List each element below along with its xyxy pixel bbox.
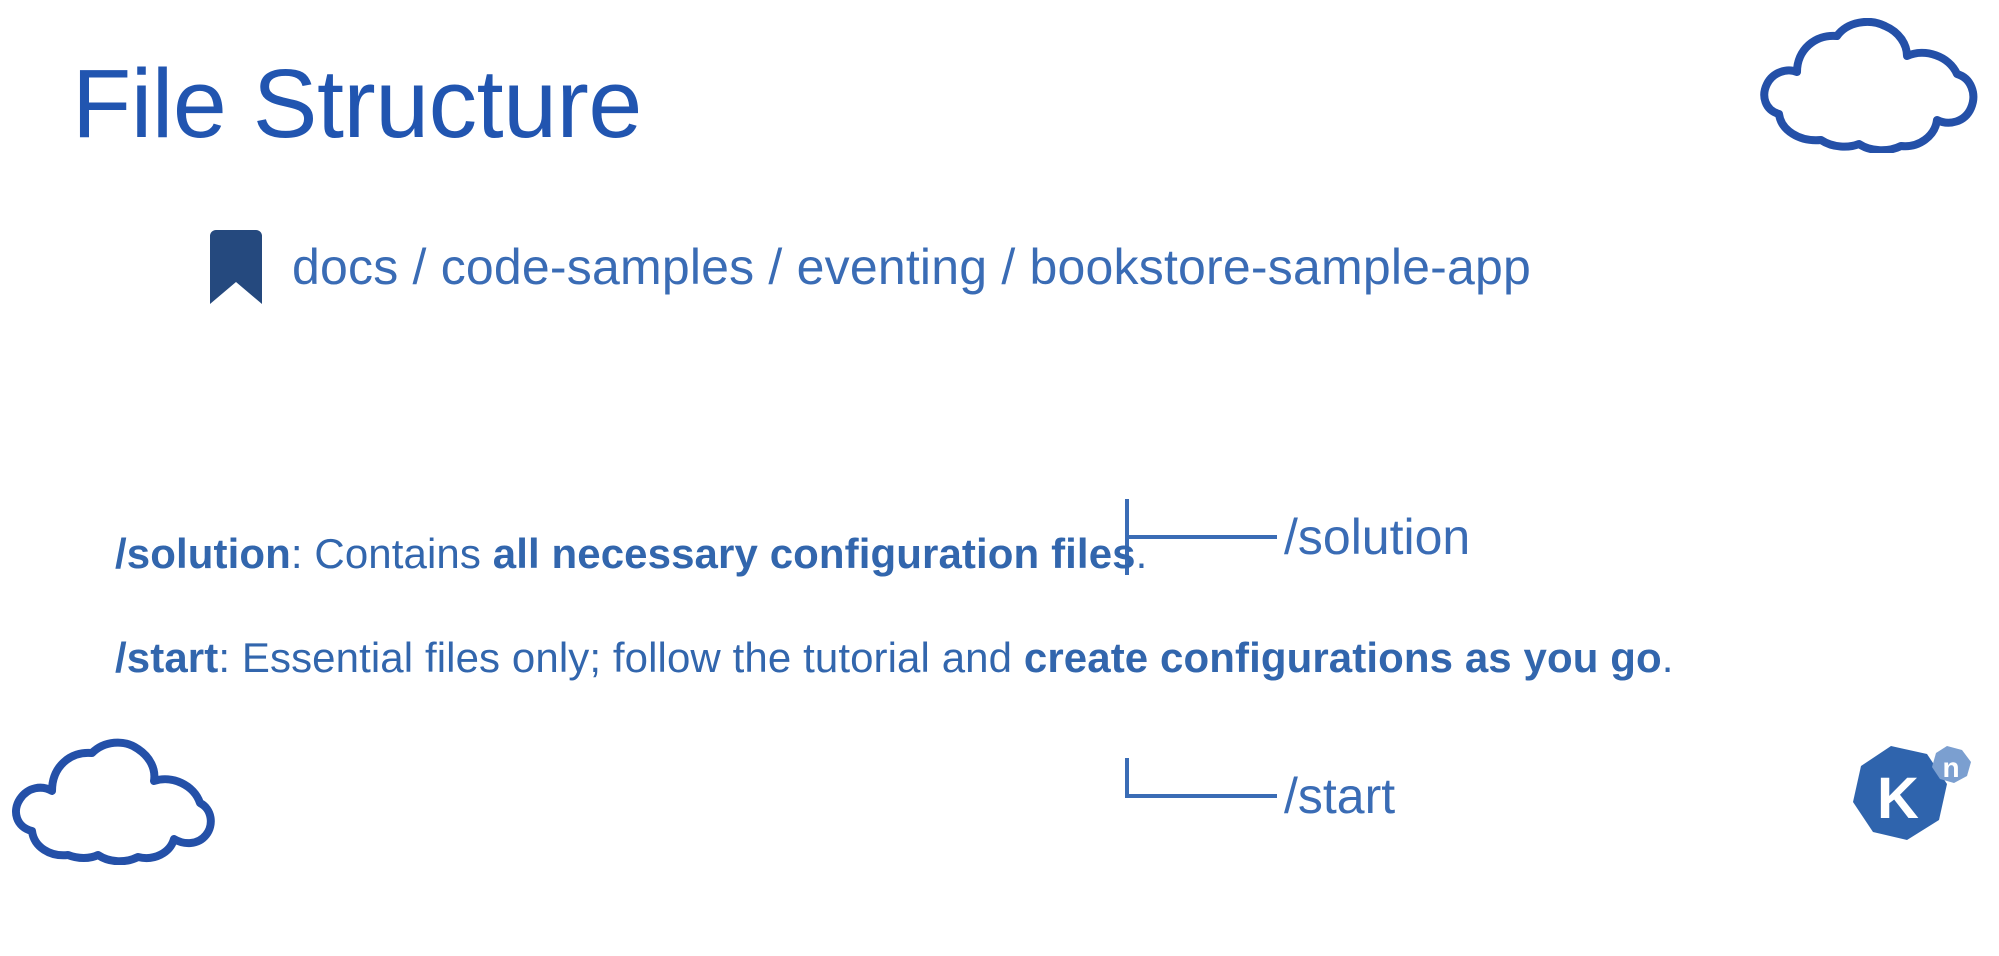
cloud-icon bbox=[1759, 18, 1979, 153]
emphasis-text: /start bbox=[115, 634, 218, 681]
file-path-text: docs / code-samples / eventing / booksto… bbox=[292, 242, 1531, 292]
start-description-text: /start: Essential files only; follow the… bbox=[115, 634, 1674, 681]
solution-description-text: /solution: Contains all necessary config… bbox=[115, 530, 1147, 577]
tree-branch-elbow-icon bbox=[1125, 758, 1280, 834]
tree-node-label-solution: /solution bbox=[1284, 512, 1470, 562]
plain-text: . bbox=[1136, 530, 1148, 577]
file-path-row: docs / code-samples / eventing / booksto… bbox=[210, 230, 1531, 304]
emphasis-text: /solution bbox=[115, 530, 291, 577]
start-description: /start: Essential files only; follow the… bbox=[115, 632, 1674, 685]
emphasis-text: all necessary configuration files bbox=[493, 530, 1136, 577]
knative-letter-n: n bbox=[1942, 752, 1959, 783]
tree-branch-tee-icon bbox=[1125, 499, 1280, 575]
tree-node-start: /start bbox=[1125, 758, 1470, 834]
knative-letter-k: K bbox=[1877, 766, 1919, 831]
plain-text: : Contains bbox=[291, 530, 493, 577]
tree-node-label-start: /start bbox=[1284, 771, 1395, 821]
bookmark-icon bbox=[210, 230, 262, 304]
knative-logo: K n bbox=[1843, 740, 1973, 855]
cloud-icon bbox=[8, 735, 218, 865]
plain-text: : Essential files only; follow the tutor… bbox=[218, 634, 1024, 681]
page-title: File Structure bbox=[72, 48, 642, 160]
solution-description: /solution: Contains all necessary config… bbox=[115, 528, 1147, 581]
plain-text: . bbox=[1662, 634, 1674, 681]
tree-node-solution: /solution bbox=[1125, 499, 1470, 575]
emphasis-text: create configurations as you go bbox=[1024, 634, 1662, 681]
